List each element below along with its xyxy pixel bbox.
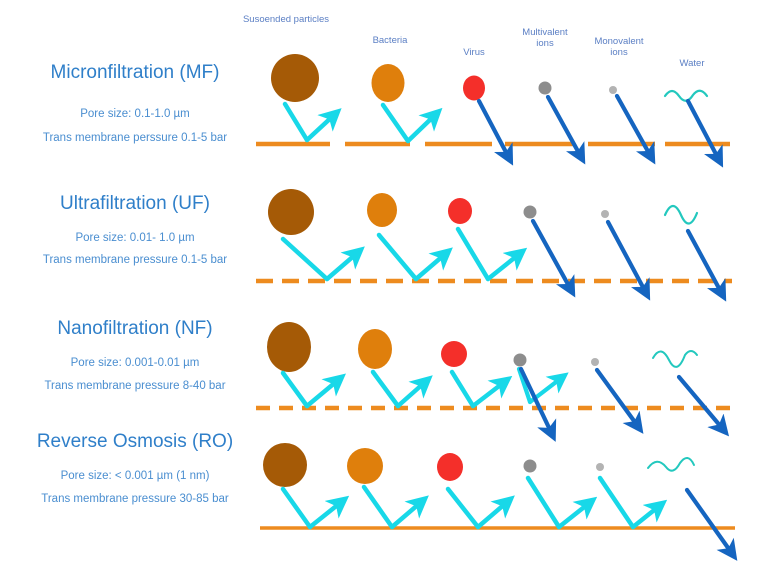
particle-virus-ultrafiltration <box>448 198 472 224</box>
particle-suspended-particles-nanofiltration <box>267 322 311 372</box>
arrow-rejected-monovalent-ions-reverse-osmosis <box>600 478 658 527</box>
row-graphics-ultrafiltration <box>256 189 732 292</box>
row-graphics-nanofiltration <box>256 322 732 432</box>
particle-water-microfiltration <box>665 91 707 101</box>
particle-multivalent-ions-nanofiltration <box>514 354 527 367</box>
particle-bacteria-microfiltration <box>372 64 405 102</box>
arrow-rejected-virus-ultrafiltration <box>458 229 518 279</box>
arrow-rejected-multivalent-ions-reverse-osmosis <box>528 478 588 527</box>
arrow-rejected-suspended-particles-ultrafiltration <box>283 239 356 279</box>
row-graphics-microfiltration <box>256 54 730 158</box>
arrow-rejected-suspended-particles-microfiltration <box>285 104 333 140</box>
arrow-rejected-virus-reverse-osmosis <box>448 489 506 527</box>
particle-bacteria-reverse-osmosis <box>347 448 383 484</box>
arrow-passing-virus-microfiltration <box>479 101 508 156</box>
particle-water-reverse-osmosis <box>648 458 694 471</box>
arrow-passing-water-microfiltration <box>688 101 718 158</box>
arrow-rejected-bacteria-reverse-osmosis <box>364 487 420 527</box>
arrow-rejected-bacteria-ultrafiltration <box>379 235 444 279</box>
arrow-passing-water-nanofiltration <box>679 377 722 428</box>
particle-virus-microfiltration <box>463 76 485 101</box>
filtration-diagram-canvas: Susoended particles Bacteria Virus Multi… <box>0 0 768 576</box>
particle-virus-nanofiltration <box>441 341 467 367</box>
arrow-rejected-virus-nanofiltration <box>452 372 503 406</box>
arrow-rejected-bacteria-microfiltration <box>383 105 434 141</box>
particle-virus-reverse-osmosis <box>437 453 463 481</box>
particle-suspended-particles-microfiltration <box>271 54 319 102</box>
row-graphics-reverse-osmosis <box>260 443 735 552</box>
particle-monovalent-ions-microfiltration <box>609 86 617 94</box>
particle-monovalent-ions-nanofiltration <box>591 358 599 366</box>
particle-multivalent-ions-reverse-osmosis <box>524 460 537 473</box>
arrow-passing-multivalent-ions-microfiltration <box>548 97 580 155</box>
arrow-rejected-bacteria-nanofiltration <box>373 372 424 406</box>
particle-suspended-particles-reverse-osmosis <box>263 443 307 487</box>
particle-water-nanofiltration <box>653 351 697 367</box>
arrow-rejected-suspended-particles-reverse-osmosis <box>283 489 340 527</box>
arrow-passing-multivalent-ions-ultrafiltration <box>533 221 570 288</box>
arrow-passing-multivalent-ions-nanofiltration <box>521 369 551 432</box>
particle-suspended-particles-ultrafiltration <box>268 189 314 235</box>
particle-bacteria-ultrafiltration <box>367 193 397 227</box>
arrow-passing-water-reverse-osmosis <box>687 490 731 552</box>
arrow-rejected-suspended-particles-nanofiltration <box>283 373 337 406</box>
particle-monovalent-ions-reverse-osmosis <box>596 463 604 471</box>
particle-monovalent-ions-ultrafiltration <box>601 210 609 218</box>
arrow-passing-monovalent-ions-nanofiltration <box>597 370 637 425</box>
particle-multivalent-ions-microfiltration <box>539 82 552 95</box>
diagram-graphics-layer <box>0 0 768 576</box>
particle-bacteria-nanofiltration <box>358 329 392 369</box>
particle-water-ultrafiltration <box>665 206 697 224</box>
particle-multivalent-ions-ultrafiltration <box>524 206 537 219</box>
